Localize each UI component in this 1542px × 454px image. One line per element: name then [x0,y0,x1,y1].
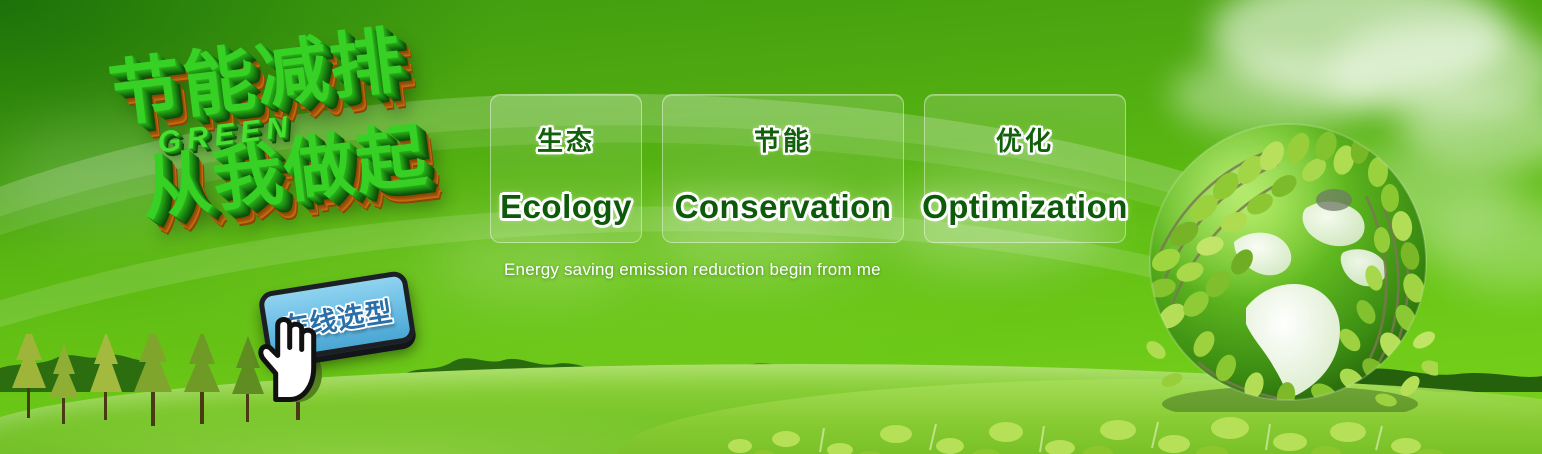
leafy-globe-icon [1138,112,1438,412]
feature-card-cn-label: 节能 [754,121,812,158]
feature-card-ecology[interactable]: 生态 Ecology [490,94,642,243]
feature-card-en-label: Conservation [675,188,892,226]
pine-tree-icon [180,334,224,424]
feature-card-en-label: Optimization [922,188,1128,226]
pine-tree-icon [130,334,176,426]
hand-pointer-icon [246,312,326,404]
headline-3d: 节能减排 GREEN 从我做起 [87,15,502,291]
feature-card-conservation[interactable]: 节能 Conservation [662,94,904,243]
pine-tree-icon [86,334,126,420]
pine-tree-icon [8,334,50,418]
eco-banner: 节能减排 GREEN 从我做起 在线选型 生态 Ecology 节能 Conse… [0,0,1542,454]
feature-card-optimization[interactable]: 优化 Optimization [924,94,1126,243]
tagline: Energy saving emission reduction begin f… [504,260,881,280]
feature-card-cn-label: 优化 [996,121,1054,158]
feature-card-list: 生态 Ecology 节能 Conservation 优化 Optimizati… [490,94,1126,243]
feature-card-cn-label: 生态 [537,121,595,158]
feature-card-en-label: Ecology [500,188,632,226]
pine-tree-icon [46,344,82,424]
